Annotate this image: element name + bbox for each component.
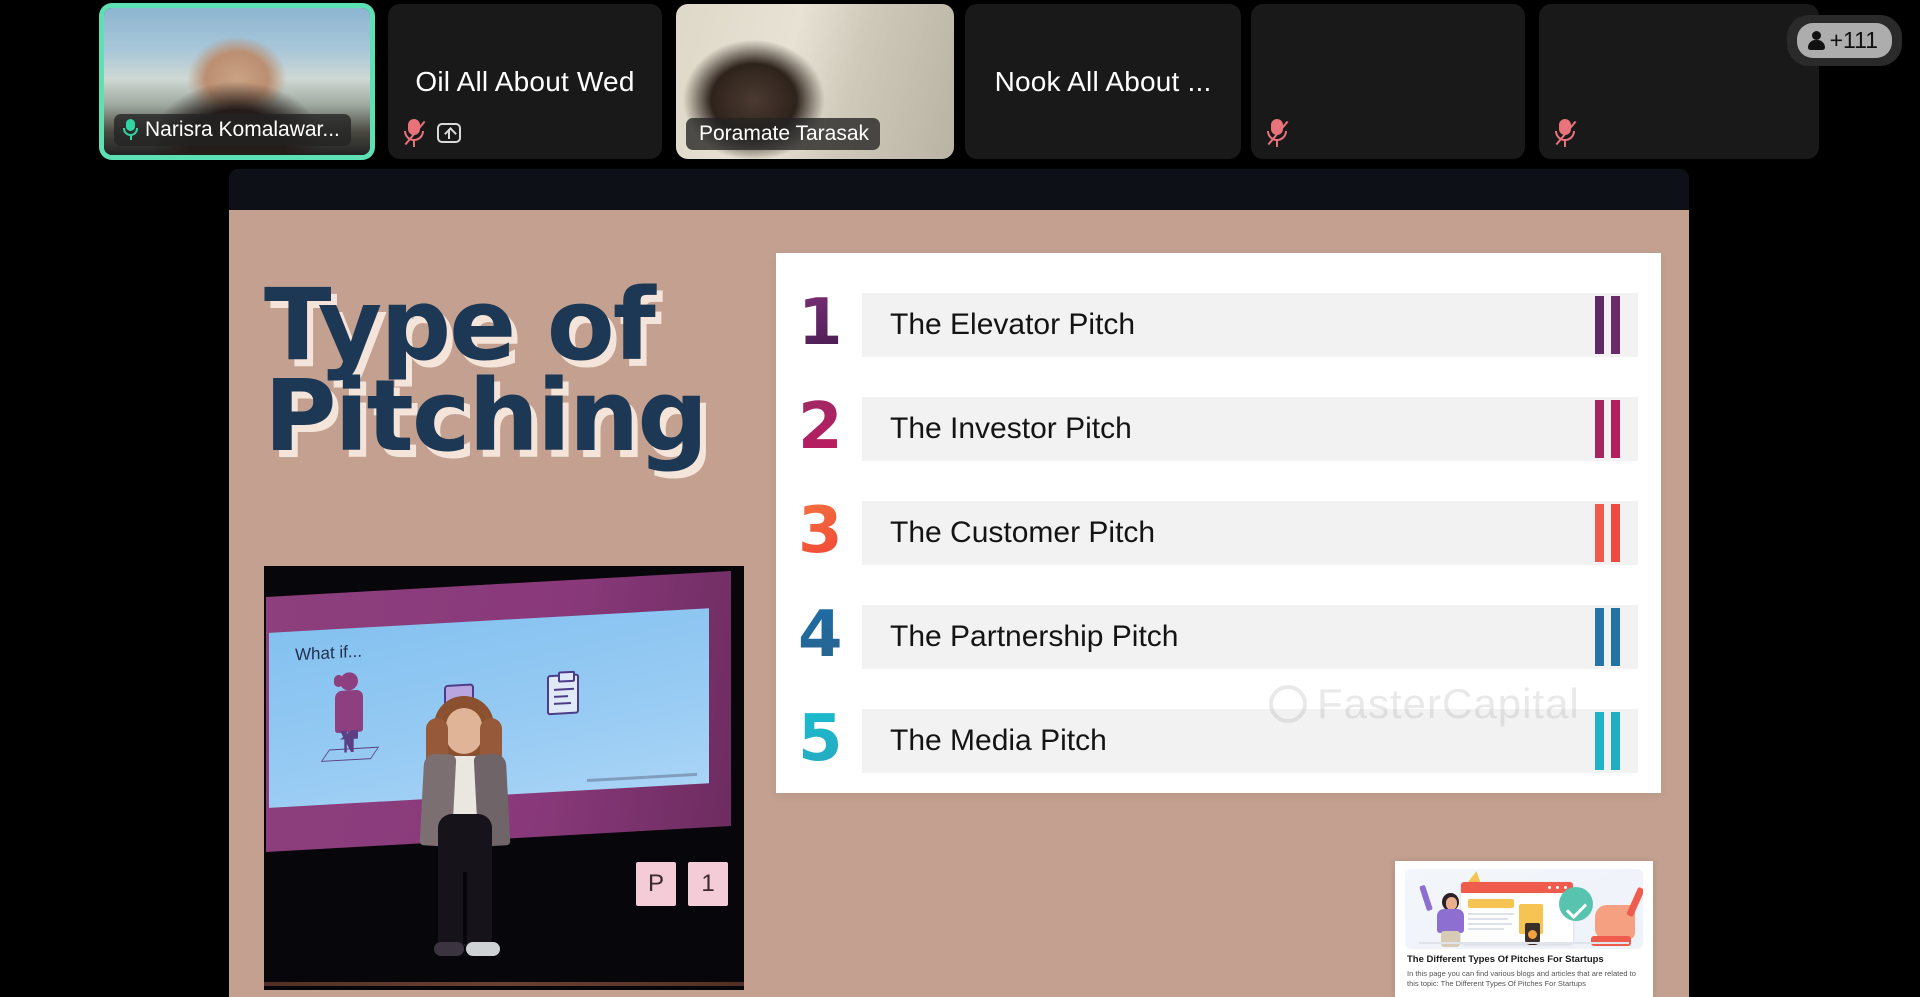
shared-screen-header — [229, 169, 1689, 210]
slide-title-line-1: Type of — [264, 280, 706, 371]
list-item: 1 The Elevator Pitch — [798, 293, 1638, 357]
list-item-number: 4 — [798, 603, 862, 667]
list-item: 5 The Media Pitch — [798, 709, 1638, 773]
accent-bars — [1595, 608, 1620, 666]
participant-status-icons-6 — [1555, 119, 1575, 147]
thumbnail-title: The Different Types Of Pitches For Start… — [1407, 955, 1643, 965]
participant-name-badge-3: Poramate Tarasak — [686, 118, 880, 150]
overflow-count: +111 — [1830, 29, 1878, 52]
meeting-screen: Narisra Komalawar... Oil All About Wed P… — [0, 0, 1920, 997]
participant-status-icons-5 — [1267, 119, 1287, 147]
list-item-label: The Investor Pitch — [862, 412, 1132, 446]
mic-off-icon — [1267, 119, 1287, 147]
speaker-figure — [412, 696, 518, 972]
pitch-type-list: 1 The Elevator Pitch 2 The Investor Pitc… — [776, 253, 1661, 793]
slide-title-line-2: Pitching — [264, 371, 706, 462]
projection-footnote — [587, 773, 697, 782]
list-item-label: The Partnership Pitch — [862, 620, 1178, 654]
presentation-slide: Type of Pitching What if... — [229, 210, 1689, 997]
participant-name-3: Poramate Tarasak — [699, 123, 869, 144]
participant-status-icons-2 — [404, 119, 461, 147]
participant-name-1: Narisra Komalawar... — [145, 119, 340, 140]
participant-tile-4[interactable]: Nook All About ... — [965, 4, 1241, 159]
screen-share-icon — [437, 123, 461, 143]
thumbnail-illustration — [1405, 869, 1643, 949]
illustration-clipboard-icon — [547, 673, 579, 715]
page-title: Type of Pitching — [264, 280, 706, 462]
stage-floor-line — [264, 982, 744, 986]
participant-name-2: Oil All About Wed — [388, 66, 662, 98]
pencil-icon — [1419, 885, 1433, 912]
list-item-label: The Elevator Pitch — [862, 308, 1135, 342]
participant-filmstrip: Narisra Komalawar... Oil All About Wed P… — [0, 0, 1920, 163]
person-illustration-icon — [1433, 893, 1467, 947]
participant-name-badge-1: Narisra Komalawar... — [114, 114, 351, 146]
shared-screen[interactable]: Type of Pitching What if... — [229, 169, 1689, 997]
accent-bars — [1595, 296, 1620, 354]
participant-tile-2[interactable]: Oil All About Wed — [388, 4, 662, 159]
stage-presentation-photo: What if... P — [264, 566, 744, 990]
accent-bars — [1595, 712, 1620, 770]
list-item-number: 3 — [798, 499, 862, 563]
projected-caption: What if... — [295, 642, 362, 666]
list-item-label: The Media Pitch — [862, 724, 1107, 758]
list-item-number: 5 — [798, 707, 862, 771]
list-item-label: The Customer Pitch — [862, 516, 1155, 550]
participant-tile-6[interactable] — [1539, 4, 1819, 159]
accent-bars — [1595, 400, 1620, 458]
illustration-person-icon — [329, 671, 371, 759]
stage-letter-card-p: P — [636, 862, 676, 906]
article-thumbnail-card: The Different Types Of Pitches For Start… — [1395, 861, 1653, 997]
accent-bars — [1595, 504, 1620, 562]
mic-off-icon — [404, 119, 424, 147]
list-item: 3 The Customer Pitch — [798, 501, 1638, 565]
mic-off-icon — [1555, 119, 1575, 147]
list-item-number: 1 — [798, 291, 862, 355]
person-icon — [1808, 31, 1825, 51]
thumbnail-description: In this page you can find various blogs … — [1407, 969, 1643, 989]
participant-tile-1[interactable]: Narisra Komalawar... — [100, 4, 374, 159]
participant-overflow-button[interactable]: +111 — [1787, 15, 1902, 66]
ground-line — [1419, 942, 1629, 944]
checkmark-circle-icon — [1559, 887, 1593, 921]
pencil-icon — [1626, 887, 1643, 917]
list-item: 2 The Investor Pitch — [798, 397, 1638, 461]
participant-name-4: Nook All About ... — [965, 66, 1241, 98]
browser-window-icon — [1461, 882, 1573, 944]
list-item: 4 The Partnership Pitch — [798, 605, 1638, 669]
participant-tile-5[interactable] — [1251, 4, 1525, 159]
participant-tile-3[interactable]: Poramate Tarasak — [676, 4, 954, 159]
list-item-number: 2 — [798, 395, 862, 459]
mic-on-icon — [123, 119, 138, 140]
stage-letter-card-1: 1 — [688, 862, 728, 906]
